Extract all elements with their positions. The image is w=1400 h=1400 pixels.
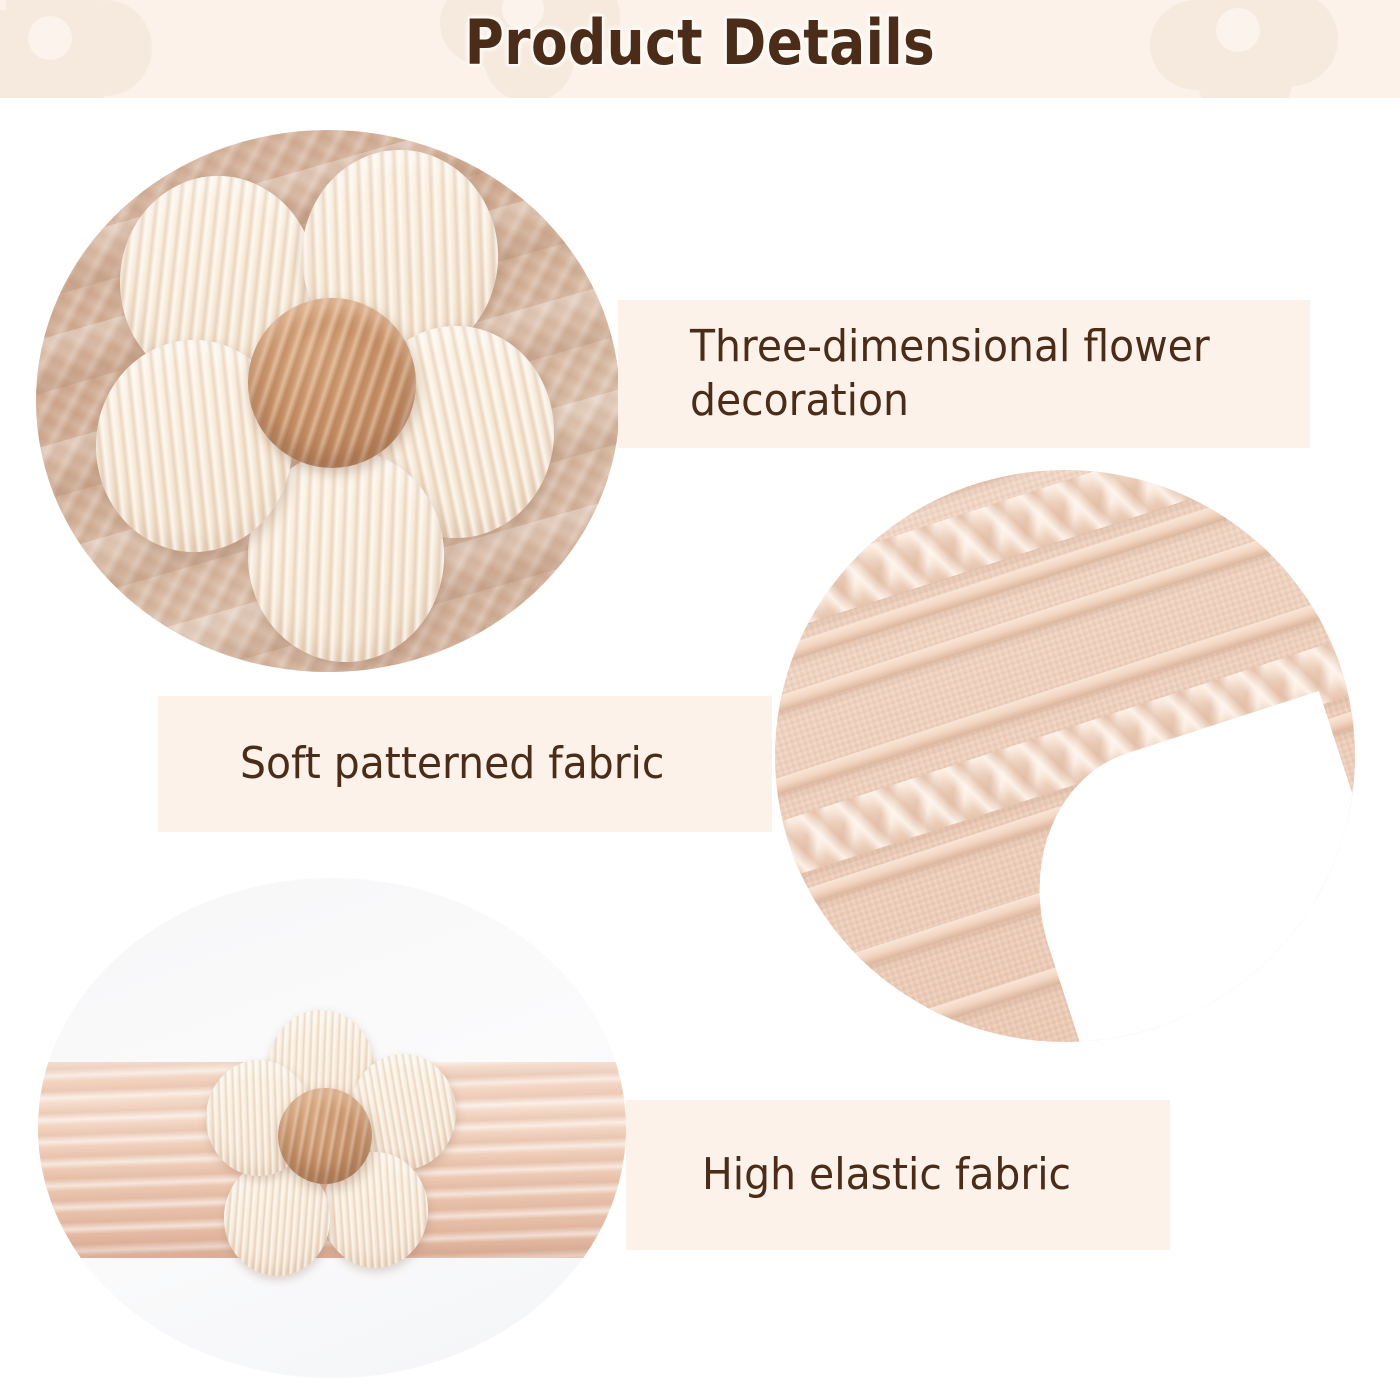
caption-elastic-fabric-text: High elastic fabric xyxy=(702,1148,1071,1202)
caption-flower-decoration-text: Three-dimensional flower decoration xyxy=(690,320,1250,427)
flower-graphic xyxy=(96,150,566,650)
flower-center-button xyxy=(248,298,416,468)
flower-closeup-photo xyxy=(36,130,620,672)
flower-center-button xyxy=(278,1088,372,1184)
knit-fabric-photo xyxy=(775,470,1355,1042)
caption-flower-decoration: Three-dimensional flower decoration xyxy=(618,300,1310,448)
caption-soft-fabric: Soft patterned fabric xyxy=(158,696,772,832)
caption-elastic-fabric: High elastic fabric xyxy=(626,1100,1170,1250)
header-band: Product Details xyxy=(0,0,1400,98)
caption-soft-fabric-text: Soft patterned fabric xyxy=(240,737,664,791)
flower-graphic xyxy=(206,1010,456,1278)
page-title: Product Details xyxy=(98,6,1302,79)
headband-photo xyxy=(38,878,626,1378)
